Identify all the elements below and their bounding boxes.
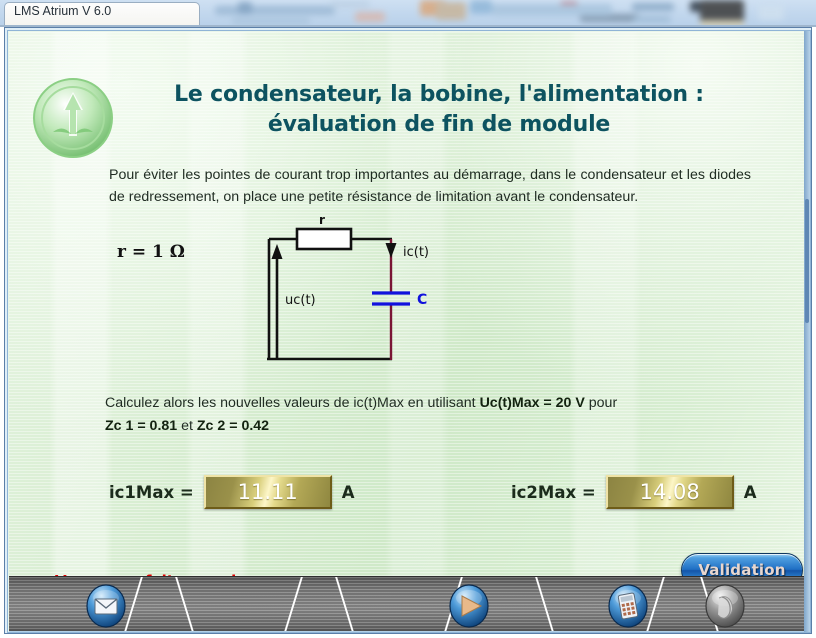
toolbar-separator — [535, 577, 555, 633]
toolbar-separator — [283, 577, 303, 633]
toolbar-separator — [175, 577, 195, 633]
play-arrow-icon — [447, 584, 491, 628]
validation-button[interactable]: Validation — [681, 553, 803, 576]
page-title-line-2: évaluation de fin de module — [129, 110, 749, 140]
browser-chrome: LMS Atrium V 6.0 — [0, 0, 816, 27]
toolbar-separator — [335, 577, 355, 633]
question-bold-zc2: Zc 2 = 0.42 — [197, 418, 269, 434]
vertical-scrollbar-thumb[interactable] — [805, 199, 809, 323]
svg-text:uc(t): uc(t) — [285, 293, 316, 308]
mail-icon — [84, 584, 128, 628]
answer-label-ic2: ic2Max = — [511, 483, 596, 502]
page-title-line-1: Le condensateur, la bobine, l'alimentati… — [129, 80, 749, 110]
toolbar-calculator-button[interactable] — [606, 584, 650, 628]
svg-text:ic(t): ic(t) — [403, 245, 429, 260]
lesson-page: Le condensateur, la bobine, l'alimentati… — [9, 32, 809, 576]
question-conjunction: et — [177, 418, 197, 434]
application-window: Le condensateur, la bobine, l'alimentati… — [4, 27, 812, 634]
toolbar-sound-button[interactable] — [703, 584, 747, 628]
svg-text:r: r — [319, 214, 325, 227]
answer-unit-ic1: A — [342, 483, 355, 502]
intro-paragraph: Pour éviter les pointes de courant trop … — [109, 164, 751, 208]
circuit-diagram: r uc(t) ic(t) C — [159, 214, 449, 379]
browser-tab-title: LMS Atrium V 6.0 — [14, 4, 111, 18]
bottom-toolbar — [9, 576, 809, 633]
marine-nationale-logo-icon — [31, 76, 115, 160]
calculator-icon — [606, 584, 650, 628]
svg-text:C: C — [417, 292, 427, 308]
validation-button-label: Validation — [682, 554, 802, 576]
answer-label-ic1: ic1Max = — [109, 483, 194, 502]
answer-input-ic2[interactable]: 14.08 — [606, 475, 734, 509]
application-frame: Le condensateur, la bobine, l'alimentati… — [7, 30, 811, 633]
toolbar-mail-button[interactable] — [84, 584, 128, 628]
question-part-1: Calculez alors les nouvelles valeurs de … — [105, 395, 480, 411]
answer-input-ic1[interactable]: 11.11 — [204, 475, 332, 509]
window-right-frame — [804, 31, 810, 633]
answer-row-ic2: ic2Max = 14.08 A — [511, 475, 756, 509]
sound-off-icon — [703, 584, 747, 628]
question-bold-zc1: Zc 1 = 0.81 — [105, 418, 177, 434]
question-paragraph: Calculez alors les nouvelles valeurs de … — [105, 392, 765, 438]
answer-row-ic1: ic1Max = 11.11 A — [109, 475, 354, 509]
toolbar-bottom-strip — [9, 631, 811, 633]
question-part-2: pour — [585, 395, 617, 411]
toolbar-next-button[interactable] — [447, 584, 491, 628]
answer-unit-ic2: A — [744, 483, 757, 502]
question-bold-uc: Uc(t)Max = 20 V — [480, 395, 585, 411]
page-title: Le condensateur, la bobine, l'alimentati… — [129, 80, 749, 140]
